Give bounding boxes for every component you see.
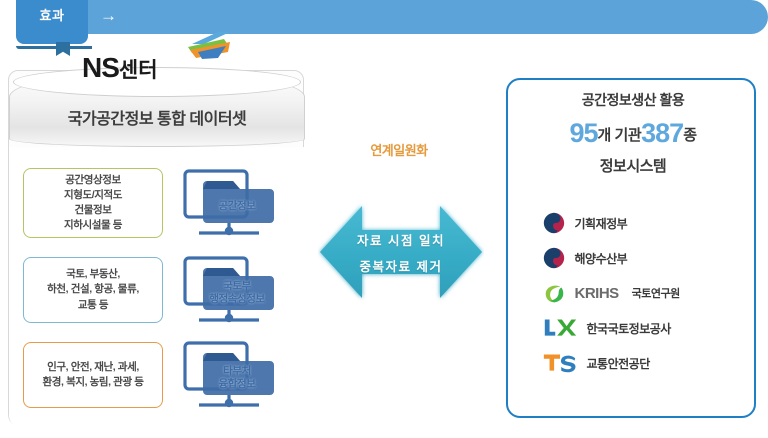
section-tab-effect[interactable]: 효과 [16,0,88,44]
bidirectional-arrow: 자료 시점 일치 중복자료 제거 [318,190,484,314]
agency-name: 해양수산부 [575,250,628,267]
agency-row-krihs[interactable]: KRIHS 국토연구원 [541,280,726,306]
taegeuk-emblem-icon [541,245,567,271]
count-institutions: 95 [570,118,598,148]
folder-icon-other-ministry[interactable]: 타부처 융합정보 [177,337,281,413]
folder-icon-molit[interactable]: 국토부 행정속성정보 [177,252,281,328]
info-box-landinfra: 국토, 부동산, 하천, 건설, 항공, 물류, 교통 등 [23,257,163,323]
ns-center-logo: NS 센터 [82,54,158,82]
count-systems: 387 [641,118,683,148]
unit-systems: 종 [683,127,696,144]
dataset-row: 국토, 부동산, 하천, 건설, 항공, 물류, 교통 등 국토부 행정속성정보 [23,250,293,330]
folder-icon-spatial[interactable]: 공간정보 [177,165,281,241]
dataset-cylinder: 국가공간정보 통합 데이터셋 공간영상정보 지형도/지적도 건물정보 지하시설물… [8,70,304,428]
agency-row-ts[interactable]: 교통안전공단 [541,350,726,376]
agency-name: 기획재정부 [575,215,628,232]
output-heading: 공간정보생산 활용 [508,90,758,111]
folder-label: 공간정보 [177,165,281,241]
ns-swoosh-icon [178,28,234,62]
output-subheading: 정보시스템 [508,155,758,176]
krihs-leaf-icon [541,280,567,306]
agency-row-lx[interactable]: 한국국토정보공사 [541,315,726,341]
agency-name: 한국국토정보공사 [587,320,671,337]
krihs-wordmark: KRIHS [575,286,619,301]
link-unification-label: 연계일원화 [324,140,474,159]
agency-row-mof[interactable]: 해양수산부 [541,245,726,271]
agency-row-moef[interactable]: 기획재정부 [541,210,726,236]
ts-wordmark-icon [541,350,579,376]
unit-institutions: 개 기관 [598,127,642,144]
arrow-right-icon: → [100,4,117,28]
taegeuk-emblem-icon [541,210,567,236]
output-panel-header: 공간정보생산 활용 95개 기관387종 정보시스템 [508,90,758,176]
arrow-text-line-2: 중복자료 제거 [360,256,443,275]
bookmark-ribbon-icon [16,40,92,56]
dataset-title: 국가공간정보 통합 데이터셋 [9,105,305,129]
header-bar [16,0,768,34]
ns-logo-secondary: 센터 [119,60,158,82]
folder-label: 타부처 융합정보 [177,337,281,413]
info-box-spatial: 공간영상정보 지형도/지적도 건물정보 지하시설물 등 [23,168,163,239]
section-tab-label: 효과 [40,5,65,24]
dataset-row: 공간영상정보 지형도/지적도 건물정보 지하시설물 등 공간정보 [23,163,293,243]
agency-list: 기획재정부 해양수산부 KRIHS [508,210,758,376]
cylinder-body: 공간영상정보 지형도/지적도 건물정보 지하시설물 등 공간정보 [9,147,305,429]
info-box-text: 공간영상정보 지형도/지적도 건물정보 지하시설물 등 [64,173,122,234]
arrow-text-line-1: 자료 시점 일치 [357,230,445,249]
lx-wordmark-icon [541,315,579,341]
info-box-text: 국토, 부동산, 하천, 건설, 항공, 물류, 교통 등 [47,267,139,313]
output-counts: 95개 기관387종 [508,115,758,153]
info-box-text: 인구, 안전, 재난, 과세, 환경, 복지, 농림, 관광 등 [43,360,144,390]
infographic-canvas: → 효과 NS 센터 국가공간정보 통합 데이터셋 공간영상정보 지형도/지적도… [0,0,768,438]
agency-name: 교통안전공단 [587,355,650,372]
output-panel: 공간정보생산 활용 95개 기관387종 정보시스템 기획재정부 [506,78,756,418]
dataset-row: 인구, 안전, 재난, 과세, 환경, 복지, 농림, 관광 등 타부처 융합정… [23,335,293,415]
ns-logo-primary: NS [82,54,119,82]
info-box-other: 인구, 안전, 재난, 과세, 환경, 복지, 농림, 관광 등 [23,342,163,408]
agency-name: 국토연구원 [632,285,680,301]
folder-label: 국토부 행정속성정보 [177,252,281,328]
